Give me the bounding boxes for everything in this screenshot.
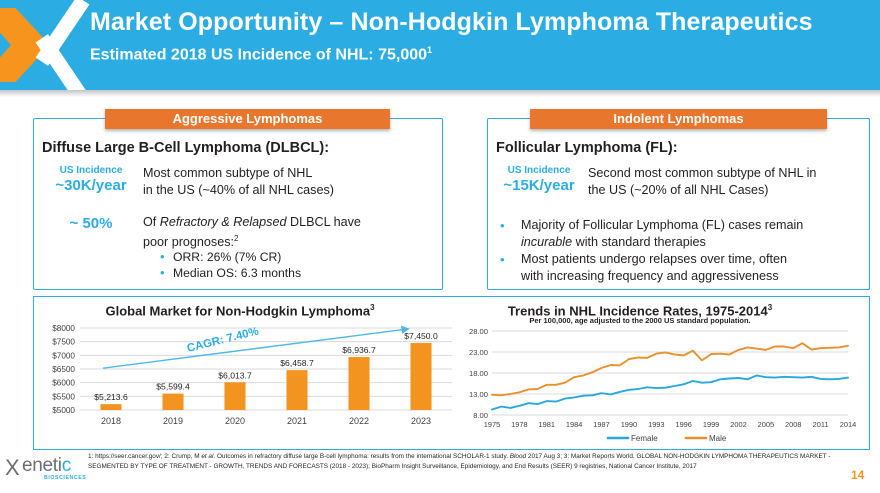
page-subtitle-footnote-ref: 1 xyxy=(427,45,432,55)
line-chart-xtick: 1978 xyxy=(511,420,527,429)
bar-chart-category-label: 2022 xyxy=(349,416,369,426)
bar-chart-ytick: $5000 xyxy=(52,406,75,415)
card-left-stat-line2: poor prognoses:2 xyxy=(143,231,238,251)
bar-chart-ytick: $7500 xyxy=(52,338,75,347)
bar-chart-cagr-annotation: CAGR: 7.40% xyxy=(186,325,260,354)
bar-chart-value-label: $6,013.7 xyxy=(218,370,252,380)
bullet-1-emphasis: incurable xyxy=(521,235,572,249)
bar-chart-bar xyxy=(410,343,431,410)
footnote-part2: . Outcomes in refractory diffuse large B… xyxy=(213,453,509,460)
line-chart-xtick: 1987 xyxy=(593,420,609,429)
line-chart-legend-label: Female xyxy=(631,434,658,443)
card-right-kpi-label: US Incidence xyxy=(496,165,582,176)
bar-chart-value-label: $6,458.7 xyxy=(280,358,314,368)
line-chart-series-female xyxy=(492,376,848,410)
card-right-bullet-2-line1: Most patients undergo relapses over time… xyxy=(521,251,787,268)
line-chart-xtick: 1990 xyxy=(621,420,637,429)
logo-wordmark: enetic xyxy=(22,455,71,477)
card-left-kpi-label: US Incidence xyxy=(48,165,134,176)
header-shadow xyxy=(0,90,880,97)
bar-chart-ytick: $6500 xyxy=(52,365,75,374)
footnote-emphasis2: Blood xyxy=(510,453,526,460)
bar-chart-category-label: 2018 xyxy=(101,416,121,426)
bar-chart-bar xyxy=(224,382,245,410)
bar-chart: $8000$7500$7000$6500$6000$5500$5000$5,21… xyxy=(38,322,458,432)
ribbon-indolent-lymphomas: Indolent Lymphomas xyxy=(530,109,827,129)
footnote-emphasis1: et al xyxy=(201,453,213,460)
line-chart: 28.0023.0018.0013.008.001975197819811984… xyxy=(458,325,858,447)
line-chart-xtick: 1993 xyxy=(648,420,664,429)
card-left-kpi-text-line2: in the US (~40% of all NHL cases) xyxy=(143,182,334,199)
bar-chart-value-label: $6,936.7 xyxy=(342,345,376,355)
ribbon-aggressive-lymphomas: Aggressive Lymphomas xyxy=(105,109,390,129)
card-right-bullet-1-line2: incurable with standard therapies xyxy=(521,234,706,251)
stat-line1-suffix: DLBCL have xyxy=(287,215,361,229)
slide-header: Market Opportunity – Non-Hodgkin Lymphom… xyxy=(0,0,880,90)
line-chart-xtick: 2008 xyxy=(785,420,801,429)
line-chart-subtitle: Per 100,000, age adjusted to the 2000 US… xyxy=(480,316,800,325)
bar-chart-bar xyxy=(286,370,307,410)
bar-chart-category-label: 2019 xyxy=(163,416,183,426)
line-chart-xtick: 2011 xyxy=(813,420,829,429)
stat-line1-emphasis: Refractory & Relapsed xyxy=(160,215,287,229)
bar-chart-category-label: 2023 xyxy=(411,416,431,426)
card-left-bullet-1: ORR: 26% (7% CR) xyxy=(173,249,281,265)
bar-chart-ytick: $5500 xyxy=(52,392,75,401)
company-logo: X enetic BIOSCIENCES xyxy=(4,455,90,487)
bar-chart-bar xyxy=(162,394,183,410)
card-right-kpi-value: ~15K/year xyxy=(496,177,582,194)
stat-line2-footnote-ref: 2 xyxy=(234,234,238,243)
logo-wordmark-part2: c xyxy=(62,455,71,476)
stat-line2-text: poor prognoses: xyxy=(143,235,234,249)
page-subtitle: Estimated 2018 US Incidence of NHL: 75,0… xyxy=(90,45,432,64)
card-left-stat-line1: Of Refractory & Relapsed DLBCL have xyxy=(143,214,361,231)
line-chart-xtick: 1975 xyxy=(484,420,500,429)
card-right-bullet-1-line1: Majority of Follicular Lymphoma (FL) cas… xyxy=(521,217,803,234)
bar-chart-bar xyxy=(348,357,369,410)
line-chart-legend-label: Male xyxy=(709,434,727,443)
card-right-bullet-2-line2: with increasing frequency and aggressive… xyxy=(521,268,779,285)
bar-chart-value-label: $5,599.4 xyxy=(156,382,190,392)
footnote-references: 1: https://seer.cancer.gov/; 2: Crump, M… xyxy=(88,452,848,471)
line-chart-xtick: 1996 xyxy=(675,420,691,429)
bar-chart-value-label: $5,213.6 xyxy=(94,392,128,402)
page-subtitle-text: Estimated 2018 US Incidence of NHL: 75,0… xyxy=(90,46,427,63)
logo-wordmark-part1: eneti xyxy=(22,455,62,476)
bullet-dot-icon-1: • xyxy=(160,249,165,265)
card-right-kpi-text-line1: Second most common subtype of NHL in xyxy=(588,165,816,182)
card-left-kpi-value: ~30K/year xyxy=(48,177,134,194)
bar-chart-title: Global Market for Non-Hodgkin Lymphoma3 xyxy=(80,303,400,318)
slide-root: Market Opportunity – Non-Hodgkin Lymphom… xyxy=(0,0,880,493)
page-number: 14 xyxy=(851,468,864,482)
bar-chart-ytick: $8000 xyxy=(52,324,75,333)
bullet-dot-icon-3: • xyxy=(500,218,505,234)
logo-tagline: BIOSCIENCES xyxy=(44,475,86,481)
line-chart-xtick: 1984 xyxy=(566,420,582,429)
line-chart-xtick: 2002 xyxy=(730,420,746,429)
line-chart-ytick: 13.00 xyxy=(469,390,488,399)
bullet-dot-icon-4: • xyxy=(500,252,505,268)
line-chart-ytick: 18.00 xyxy=(469,369,488,378)
footnote-part1: 1: https://seer.cancer.gov/; 2: Crump, M xyxy=(88,453,201,460)
line-chart-xtick: 1999 xyxy=(703,420,719,429)
stat-line1-prefix: Of xyxy=(143,215,160,229)
bar-chart-category-label: 2020 xyxy=(225,416,245,426)
card-left-kpi-text-line1: Most common subtype of NHL xyxy=(143,165,312,182)
card-left-heading: Diffuse Large B-Cell Lymphoma (DLBCL): xyxy=(42,140,329,156)
page-title: Market Opportunity – Non-Hodgkin Lymphom… xyxy=(90,8,813,37)
bullet-1-suffix: with standard therapies xyxy=(572,235,706,249)
line-chart-xtick: 1981 xyxy=(539,420,555,429)
card-right-kpi-text-line2: the US (~20% of all NHL Cases) xyxy=(588,182,768,199)
line-chart-xtick: 2014 xyxy=(840,420,856,429)
bar-chart-bar xyxy=(100,404,121,410)
bar-chart-value-label: $7,450.0 xyxy=(404,331,438,341)
line-chart-ytick: 28.00 xyxy=(469,327,488,336)
bullet-dot-icon-2: • xyxy=(160,265,165,281)
bar-chart-category-label: 2021 xyxy=(287,416,307,426)
line-chart-xtick: 2005 xyxy=(758,420,774,429)
line-chart-ytick: 8.00 xyxy=(473,411,488,420)
bar-chart-ytick: $6000 xyxy=(52,379,75,388)
card-right-heading: Follicular Lymphoma (FL): xyxy=(496,140,678,156)
line-chart-ytick: 23.00 xyxy=(469,348,488,357)
card-left-stat-value: ~ 50% xyxy=(48,215,134,232)
card-left-bullet-2: Median OS: 6.3 months xyxy=(173,265,301,281)
bar-chart-title-text: Global Market for Non-Hodgkin Lymphoma xyxy=(105,303,370,318)
bar-chart-title-footnote-ref: 3 xyxy=(370,303,374,312)
line-chart-title-footnote-ref: 3 xyxy=(768,303,772,312)
bar-chart-ytick: $7000 xyxy=(52,351,75,360)
